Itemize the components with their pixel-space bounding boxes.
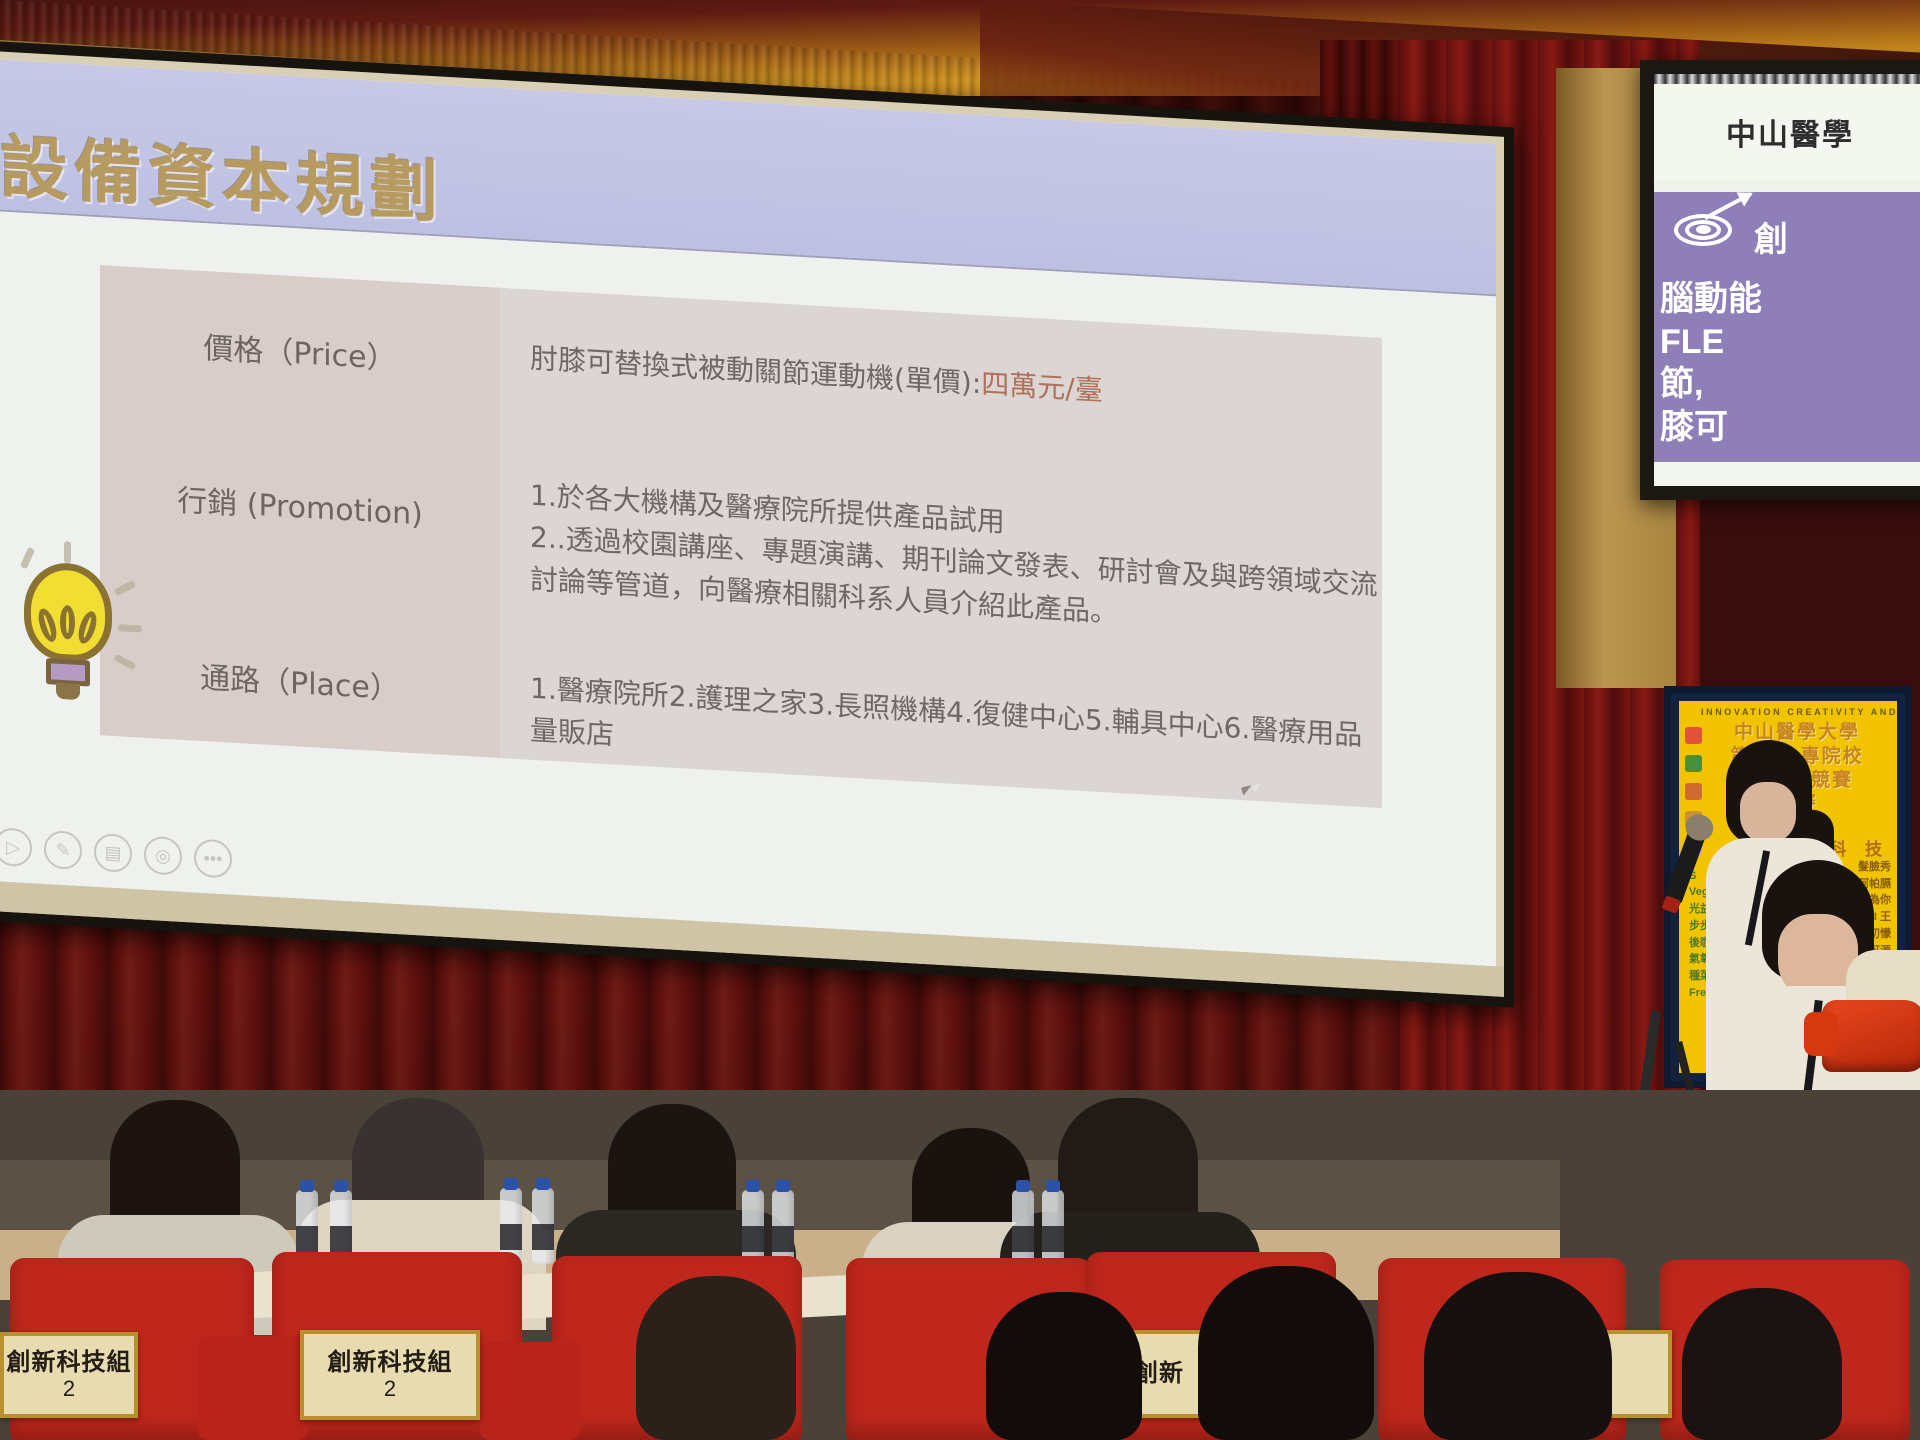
pen-icon[interactable]: ✎ [44,830,82,870]
seat-sign-line1: 創新科技組 [7,1349,132,1377]
next-slide-icon[interactable]: ▷ [0,827,32,867]
lightbulb-ray [118,624,142,632]
lightbulb-filament [40,608,96,655]
monitor-line: 腦動能 [1660,278,1920,321]
more-options-icon[interactable]: ••• [194,838,232,878]
row-label-promotion: 行銷 (Promotion) [100,471,500,538]
monitor-purple-panel: 創 腦動能 FLE 節, 膝可 [1654,192,1920,462]
presentation-slide[interactable]: 設備資本規劃 價格（Price） 行銷 (Promotion) 通路（Place… [0,59,1496,966]
table-row: 1.於各大機構及醫療院所提供產品試用 2..透過校園講座、專題演講、期刊論文發表… [530,475,1378,649]
audience-head [1682,1288,1842,1440]
lightbulb-ray [20,547,35,570]
target-dart-icon [1672,208,1746,254]
presentation-toolbar[interactable]: ▷ ✎ ▤ ◎ ••• [0,827,232,879]
lightbulb-base [46,658,90,686]
zoom-icon[interactable]: ◎ [144,836,182,876]
monitor-line: FLE [1660,321,1920,364]
price-text: 肘膝可替換式被動關節運動機(單價): [530,342,981,401]
seat-sign-line2: 2 [384,1376,396,1401]
projection-screen-frame: 設備資本規劃 價格（Price） 行銷 (Promotion) 通路（Place… [0,40,1514,1007]
audience-head [1198,1266,1374,1440]
monitor-line: 節, [1660,363,1920,406]
audience-head [1424,1272,1612,1440]
poster-english-title: INNOVATION CREATIVITY AND STARTUP [1701,707,1891,717]
water-bottle [742,1190,764,1266]
water-bottle [772,1190,794,1266]
audience-head [986,1292,1142,1440]
row-label-price: 價格（Price） [100,317,500,384]
row-label-place: 通路（Place） [100,647,500,714]
lightbulb-ray [64,541,71,563]
water-bottle [1042,1190,1064,1266]
monitor-header-text: 中山醫學 [1726,110,1854,154]
audience-head [636,1276,796,1440]
projection-screen-surface: 設備資本規劃 價格（Price） 行銷 (Promotion) 通路（Place… [0,51,1504,997]
monitor-body-lines: 腦動能 FLE 節, 膝可 [1660,278,1920,448]
water-bottle [1012,1190,1034,1266]
audience-chair-seat[interactable] [198,1336,308,1440]
monitor-header: 中山醫學 [1654,84,1920,180]
mouse-pointer-icon [1241,785,1254,795]
seat-sign: 創新科技組 2 [300,1330,480,1420]
lightbulb-tip [56,683,80,700]
seat-sign: 創新科技組 2 [0,1332,138,1418]
side-monitor: 中山醫學 創 腦動能 FLE 節, 膝可 [1640,60,1920,500]
monitor-line: 膝可 [1660,406,1920,449]
table-label-column: 價格（Price） 行銷 (Promotion) 通路（Place） [100,265,500,758]
table-content-column: 肘膝可替換式被動關節運動機(單價):四萬元/臺 1.於各大機構及醫療院所提供產品… [500,288,1382,808]
monitor-footer [1654,462,1920,486]
price-accent-text: 四萬元/臺 [981,367,1102,407]
table-row: 1.醫療院所2.護理之家3.長照機構4.復健中心5.輔具中心6.醫療用品量販店 [530,668,1382,800]
auditorium-scene: 設備資本規劃 價格（Price） 行銷 (Promotion) 通路（Place… [0,0,1920,1440]
water-bottle [532,1188,554,1264]
lightbulb-icon [10,560,128,717]
orange-rehab-device [1822,1000,1920,1072]
slide-body: 價格（Price） 行銷 (Promotion) 通路（Place） 肘膝可替換… [0,211,1496,966]
monitor-top-strip [1654,74,1920,84]
all-slides-icon[interactable]: ▤ [94,833,132,873]
seat-sign-line1: 創新科技組 [328,1349,453,1377]
table-row: 肘膝可替換式被動關節運動機(單價):四萬元/臺 [530,338,1103,413]
monitor-icon-label: 創 [1754,212,1788,261]
marketing-mix-table: 價格（Price） 行銷 (Promotion) 通路（Place） 肘膝可替換… [100,265,1382,808]
seat-sign-line2: 2 [63,1376,75,1401]
audience-chair-seat[interactable] [480,1342,580,1440]
dart-arrow-icon [1704,192,1752,220]
monitor-slide: 中山醫學 創 腦動能 FLE 節, 膝可 [1654,74,1920,486]
